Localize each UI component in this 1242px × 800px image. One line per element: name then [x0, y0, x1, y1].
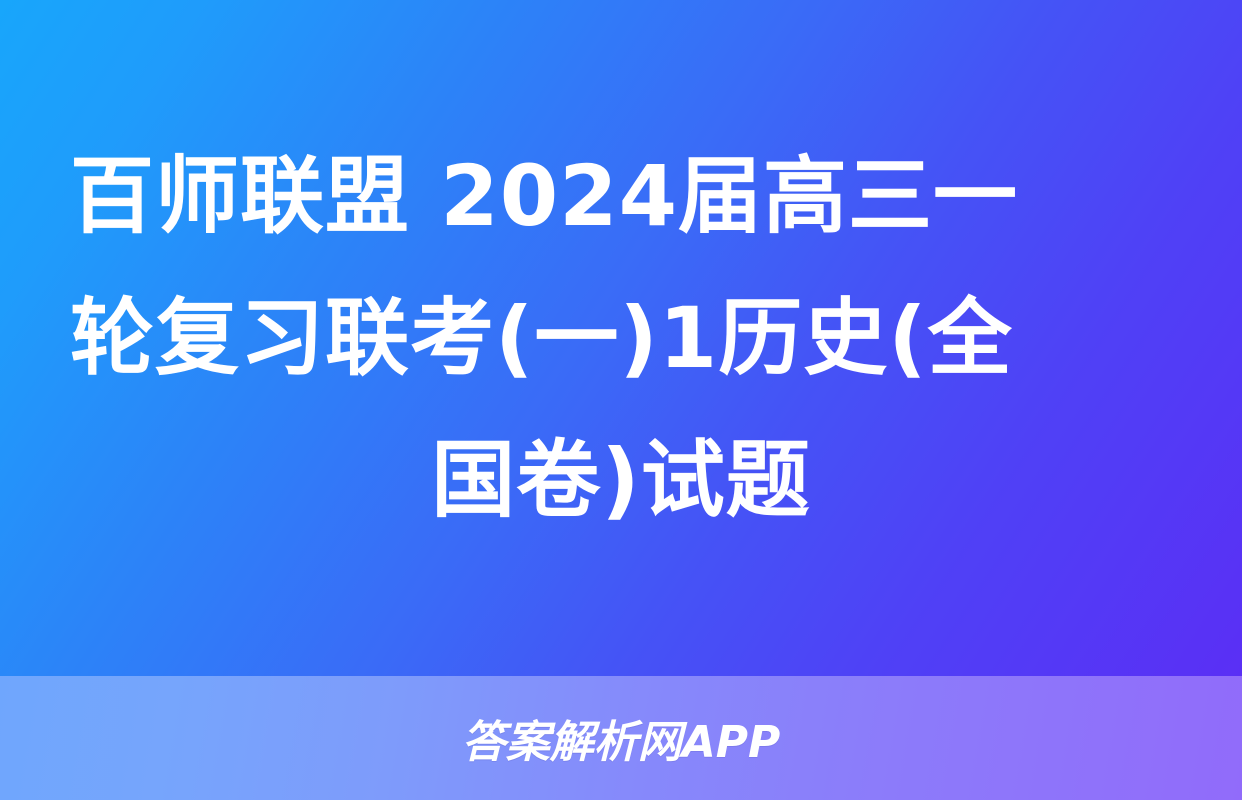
watermark-text: 答案解析网APP	[462, 706, 781, 770]
title-line-2: 轮复习联考(一)1历史(全	[70, 267, 1172, 409]
page-title: 百师联盟 2024届高三一 轮复习联考(一)1历史(全 国卷)试题	[0, 0, 1242, 676]
watermark: 答案解析网APP	[0, 676, 1242, 800]
title-line-3: 国卷)试题	[70, 409, 1172, 551]
title-card: 百师联盟 2024届高三一 轮复习联考(一)1历史(全 国卷)试题 答案解析网A…	[0, 0, 1242, 800]
title-line-1: 百师联盟 2024届高三一	[70, 125, 1172, 267]
